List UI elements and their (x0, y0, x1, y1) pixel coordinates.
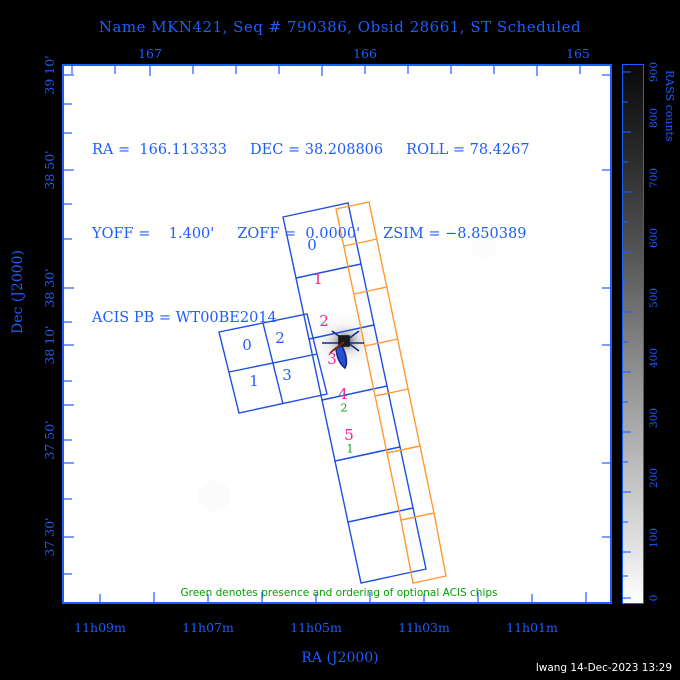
colorbar-tick-800: 800 (648, 108, 660, 128)
colorbar-tick-marks (622, 64, 646, 606)
axis-tick-marks (62, 64, 614, 606)
colorbar-tick-300: 300 (648, 408, 660, 428)
colorbar-tick-200: 200 (648, 468, 660, 488)
top-axis-tick-166: 166 (353, 46, 377, 61)
left-axis-tick-2: 38 30' (42, 268, 57, 307)
bottom-axis-tick-1: 11h07m (182, 620, 234, 635)
page-title: Name MKN421, Seq # 790386, Obsid 28661, … (0, 18, 680, 36)
colorbar-tick-500: 500 (648, 288, 660, 308)
colorbar-title: RASS counts (663, 70, 676, 142)
left-axis-tick-3: 38 10' (42, 325, 57, 364)
bottom-axis-tick-3: 11h03m (398, 620, 450, 635)
bottom-axis-tick-4: 11h01m (506, 620, 558, 635)
left-axis-tick-1: 38 50' (42, 150, 57, 189)
colorbar-tick-700: 700 (648, 168, 660, 188)
colorbar-tick-100: 100 (648, 528, 660, 548)
render-credit: lwang 14-Dec-2023 13:29 (536, 662, 672, 674)
colorbar-tick-900: 900 (648, 62, 660, 82)
colorbar-tick-0: 0 (648, 595, 660, 602)
colorbar-tick-400: 400 (648, 348, 660, 368)
bottom-axis-tick-0: 11h09m (74, 620, 126, 635)
left-axis-tick-4: 37 50' (42, 420, 57, 459)
colorbar-tick-600: 600 (648, 228, 660, 248)
left-axis-tick-0: 39 10' (42, 55, 57, 94)
top-axis-tick-167: 167 (138, 46, 162, 61)
y-axis-title: Dec (J2000) (10, 250, 26, 334)
bottom-axis-tick-2: 11h05m (290, 620, 342, 635)
top-axis-tick-165: 165 (566, 46, 590, 61)
left-axis-tick-5: 37 30' (42, 517, 57, 556)
